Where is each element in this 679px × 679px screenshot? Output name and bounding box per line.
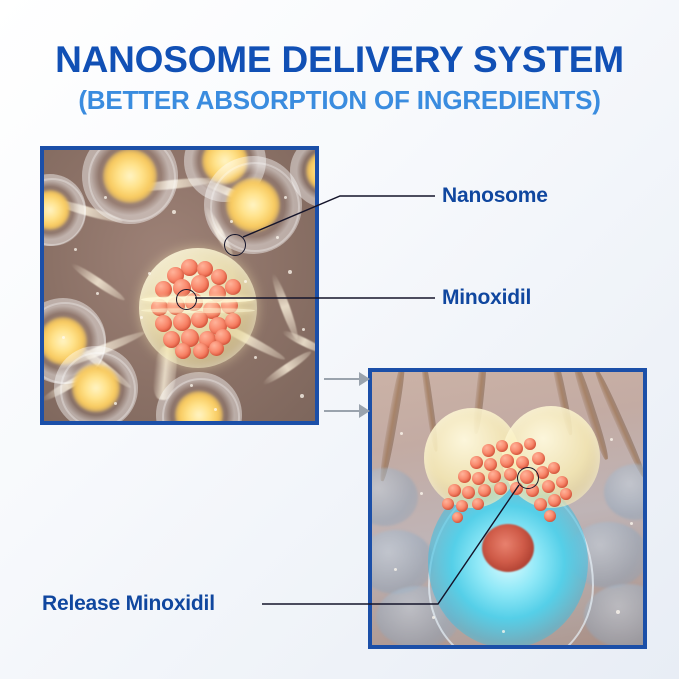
label-release-minoxidil: Release Minoxidil: [42, 592, 215, 616]
infographic-root: NANOSOME DELIVERY SYSTEM (BETTER ABSORPT…: [0, 0, 679, 679]
leader-line-release: [0, 0, 679, 679]
transition-arrow-icon: [324, 404, 370, 418]
transition-arrow-icon: [324, 372, 370, 386]
